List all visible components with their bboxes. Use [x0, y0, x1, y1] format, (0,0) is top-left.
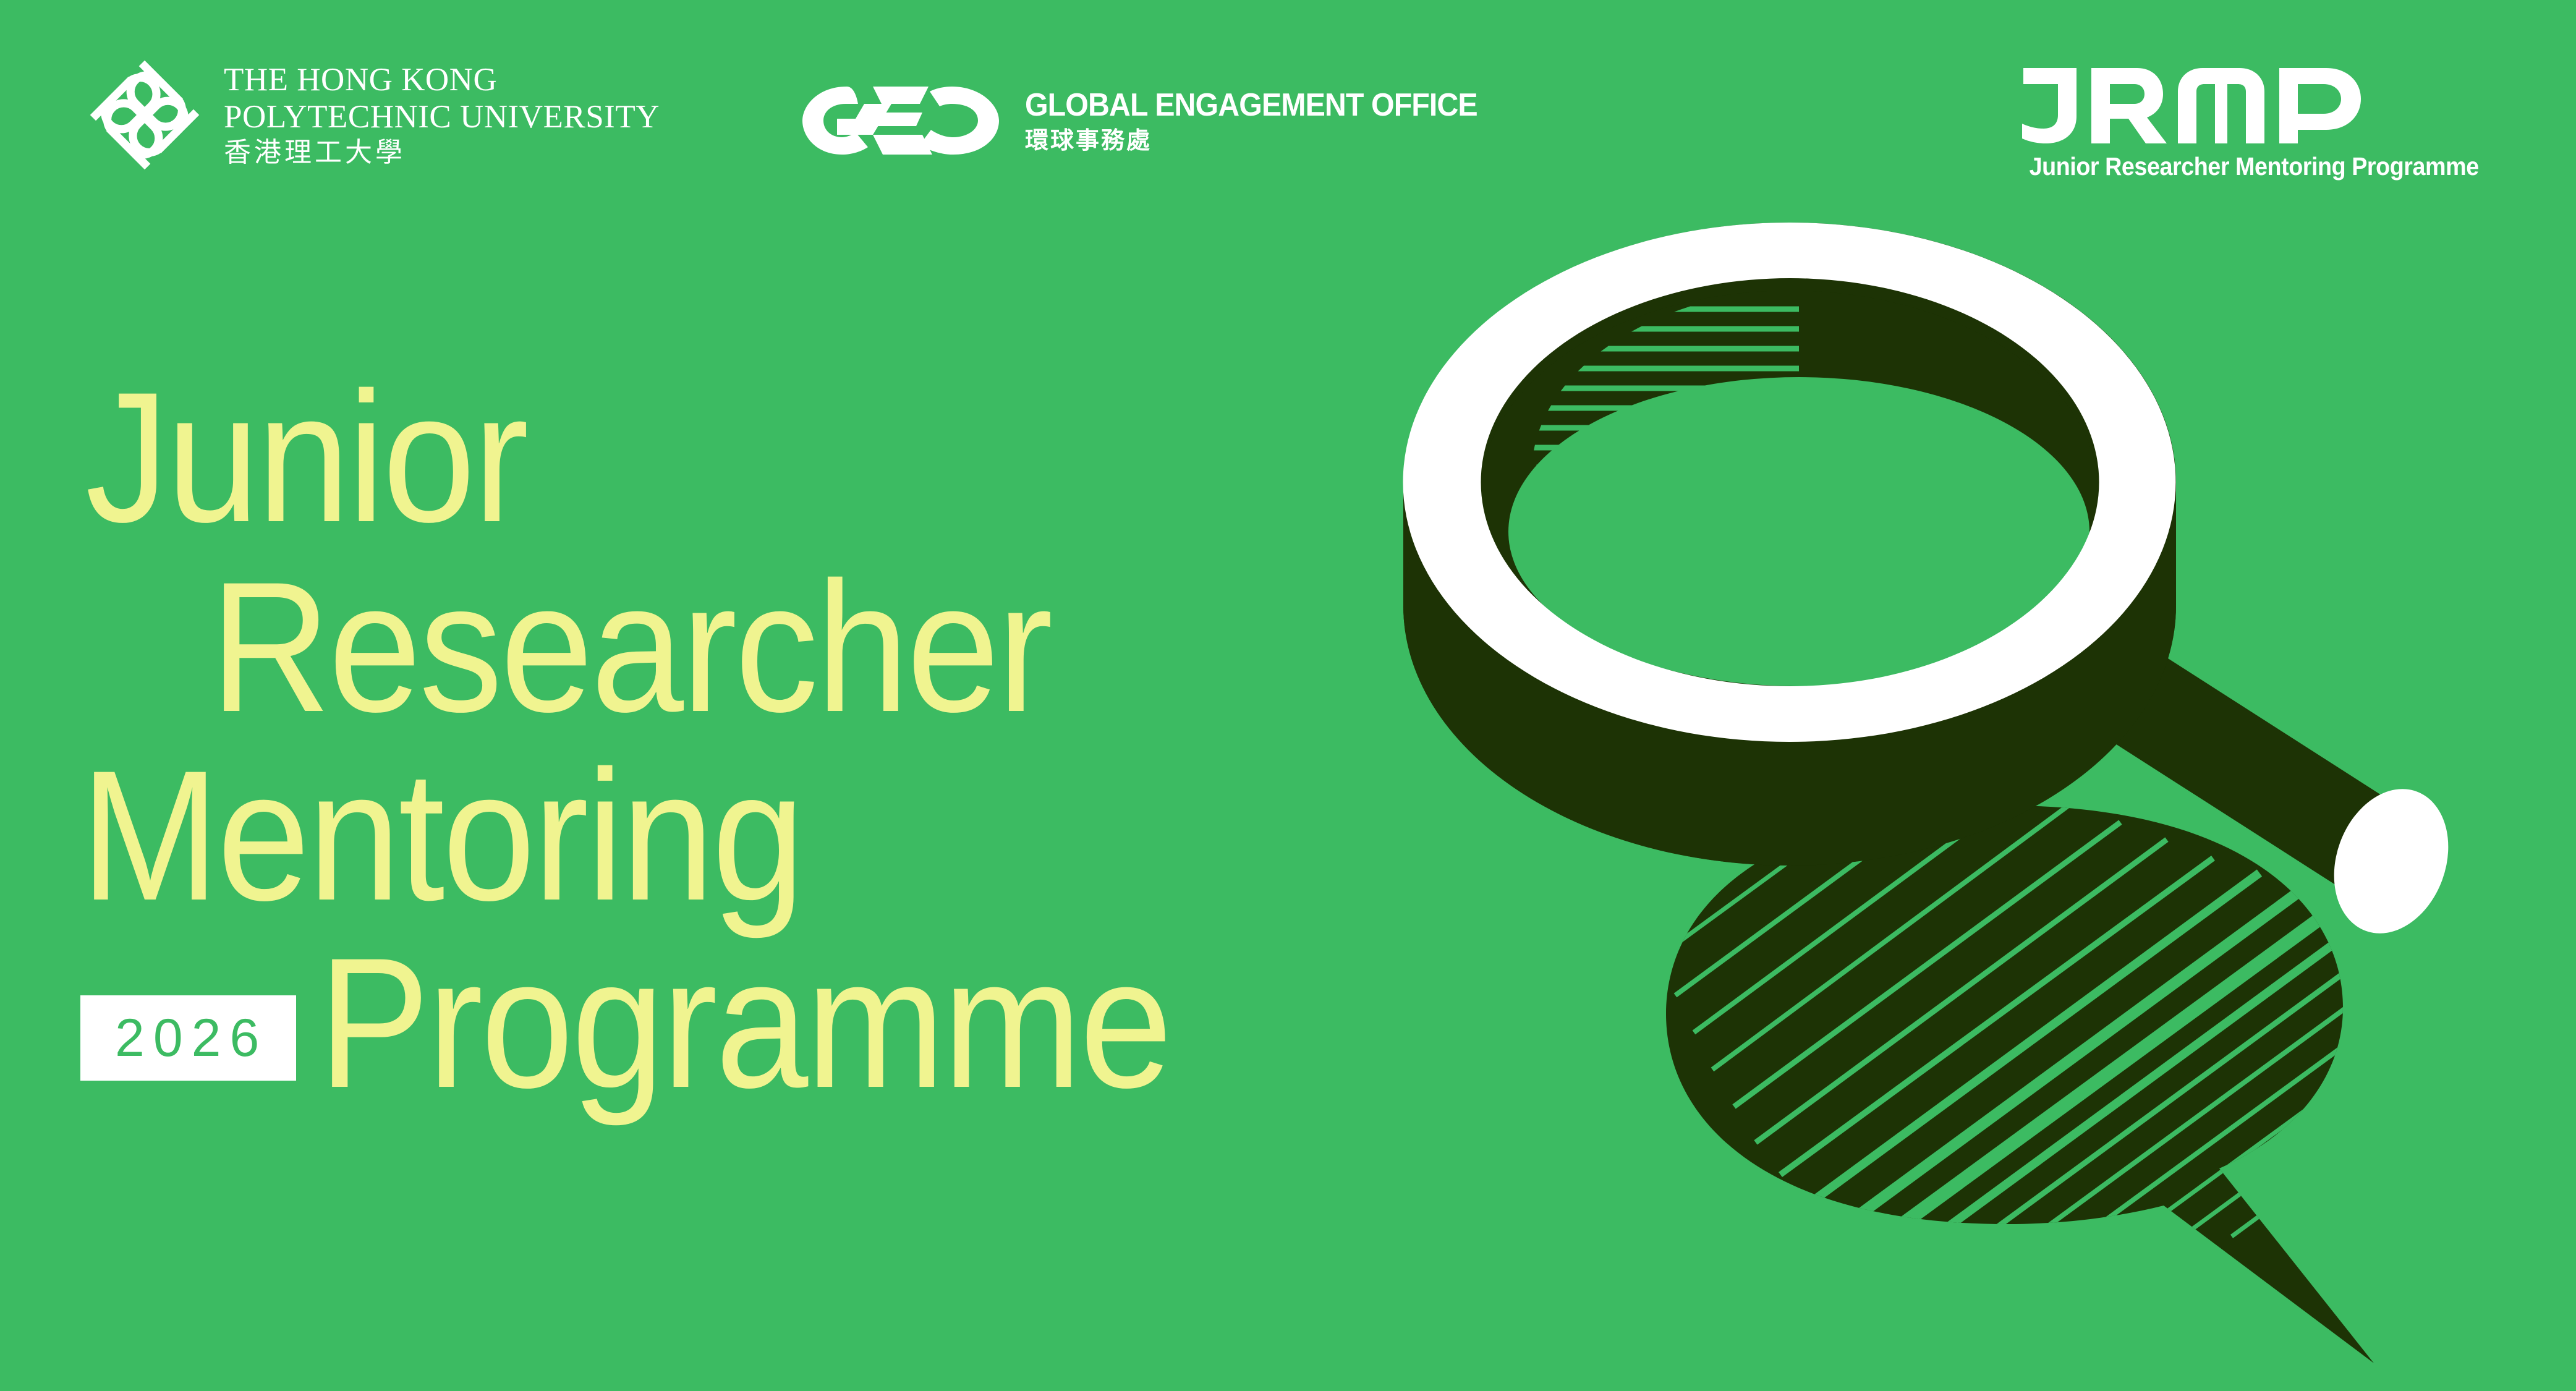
logo-bar: THE HONG KONG POLYTECHNIC UNIVERSITY 香港理… [0, 0, 2576, 204]
geo-name-english: GLOBAL ENGAGEMENT OFFICE [1025, 89, 1477, 121]
geo-logo: GLOBAL ENGAGEMENT OFFICE 環球事務處 [799, 80, 1511, 161]
polyu-knot-icon [87, 57, 203, 173]
headline-line-programme: Programme [318, 937, 1170, 1109]
headline-line-junior: Junior [85, 371, 1511, 543]
jrmp-logo: Junior Researcher Mentoring Programme [2010, 59, 2498, 181]
speech-bubble-shadow [1666, 806, 2374, 1363]
year-badge[interactable]: 2026 [80, 995, 296, 1081]
geo-infinity-icon [799, 80, 1003, 161]
geo-name-chinese: 環球事務處 [1025, 129, 1511, 152]
jrmp-wordmark-icon [2010, 59, 2381, 146]
polyu-name-chinese: 香港理工大學 [224, 139, 660, 166]
polyu-logo: THE HONG KONG POLYTECHNIC UNIVERSITY 香港理… [87, 57, 660, 173]
headline-line-mentoring: Mentoring [80, 749, 1510, 922]
polyu-name-line2: POLYTECHNIC UNIVERSITY [224, 101, 660, 134]
jrmp-tagline: Junior Researcher Mentoring Programme [2029, 152, 2478, 181]
poster-canvas: THE HONG KONG POLYTECHNIC UNIVERSITY 香港理… [0, 0, 2576, 1391]
polyu-name-line1: THE HONG KONG [224, 64, 660, 96]
headline-line-researcher: Researcher [210, 561, 1523, 733]
magnifying-glass-illustration [1329, 185, 2576, 1391]
